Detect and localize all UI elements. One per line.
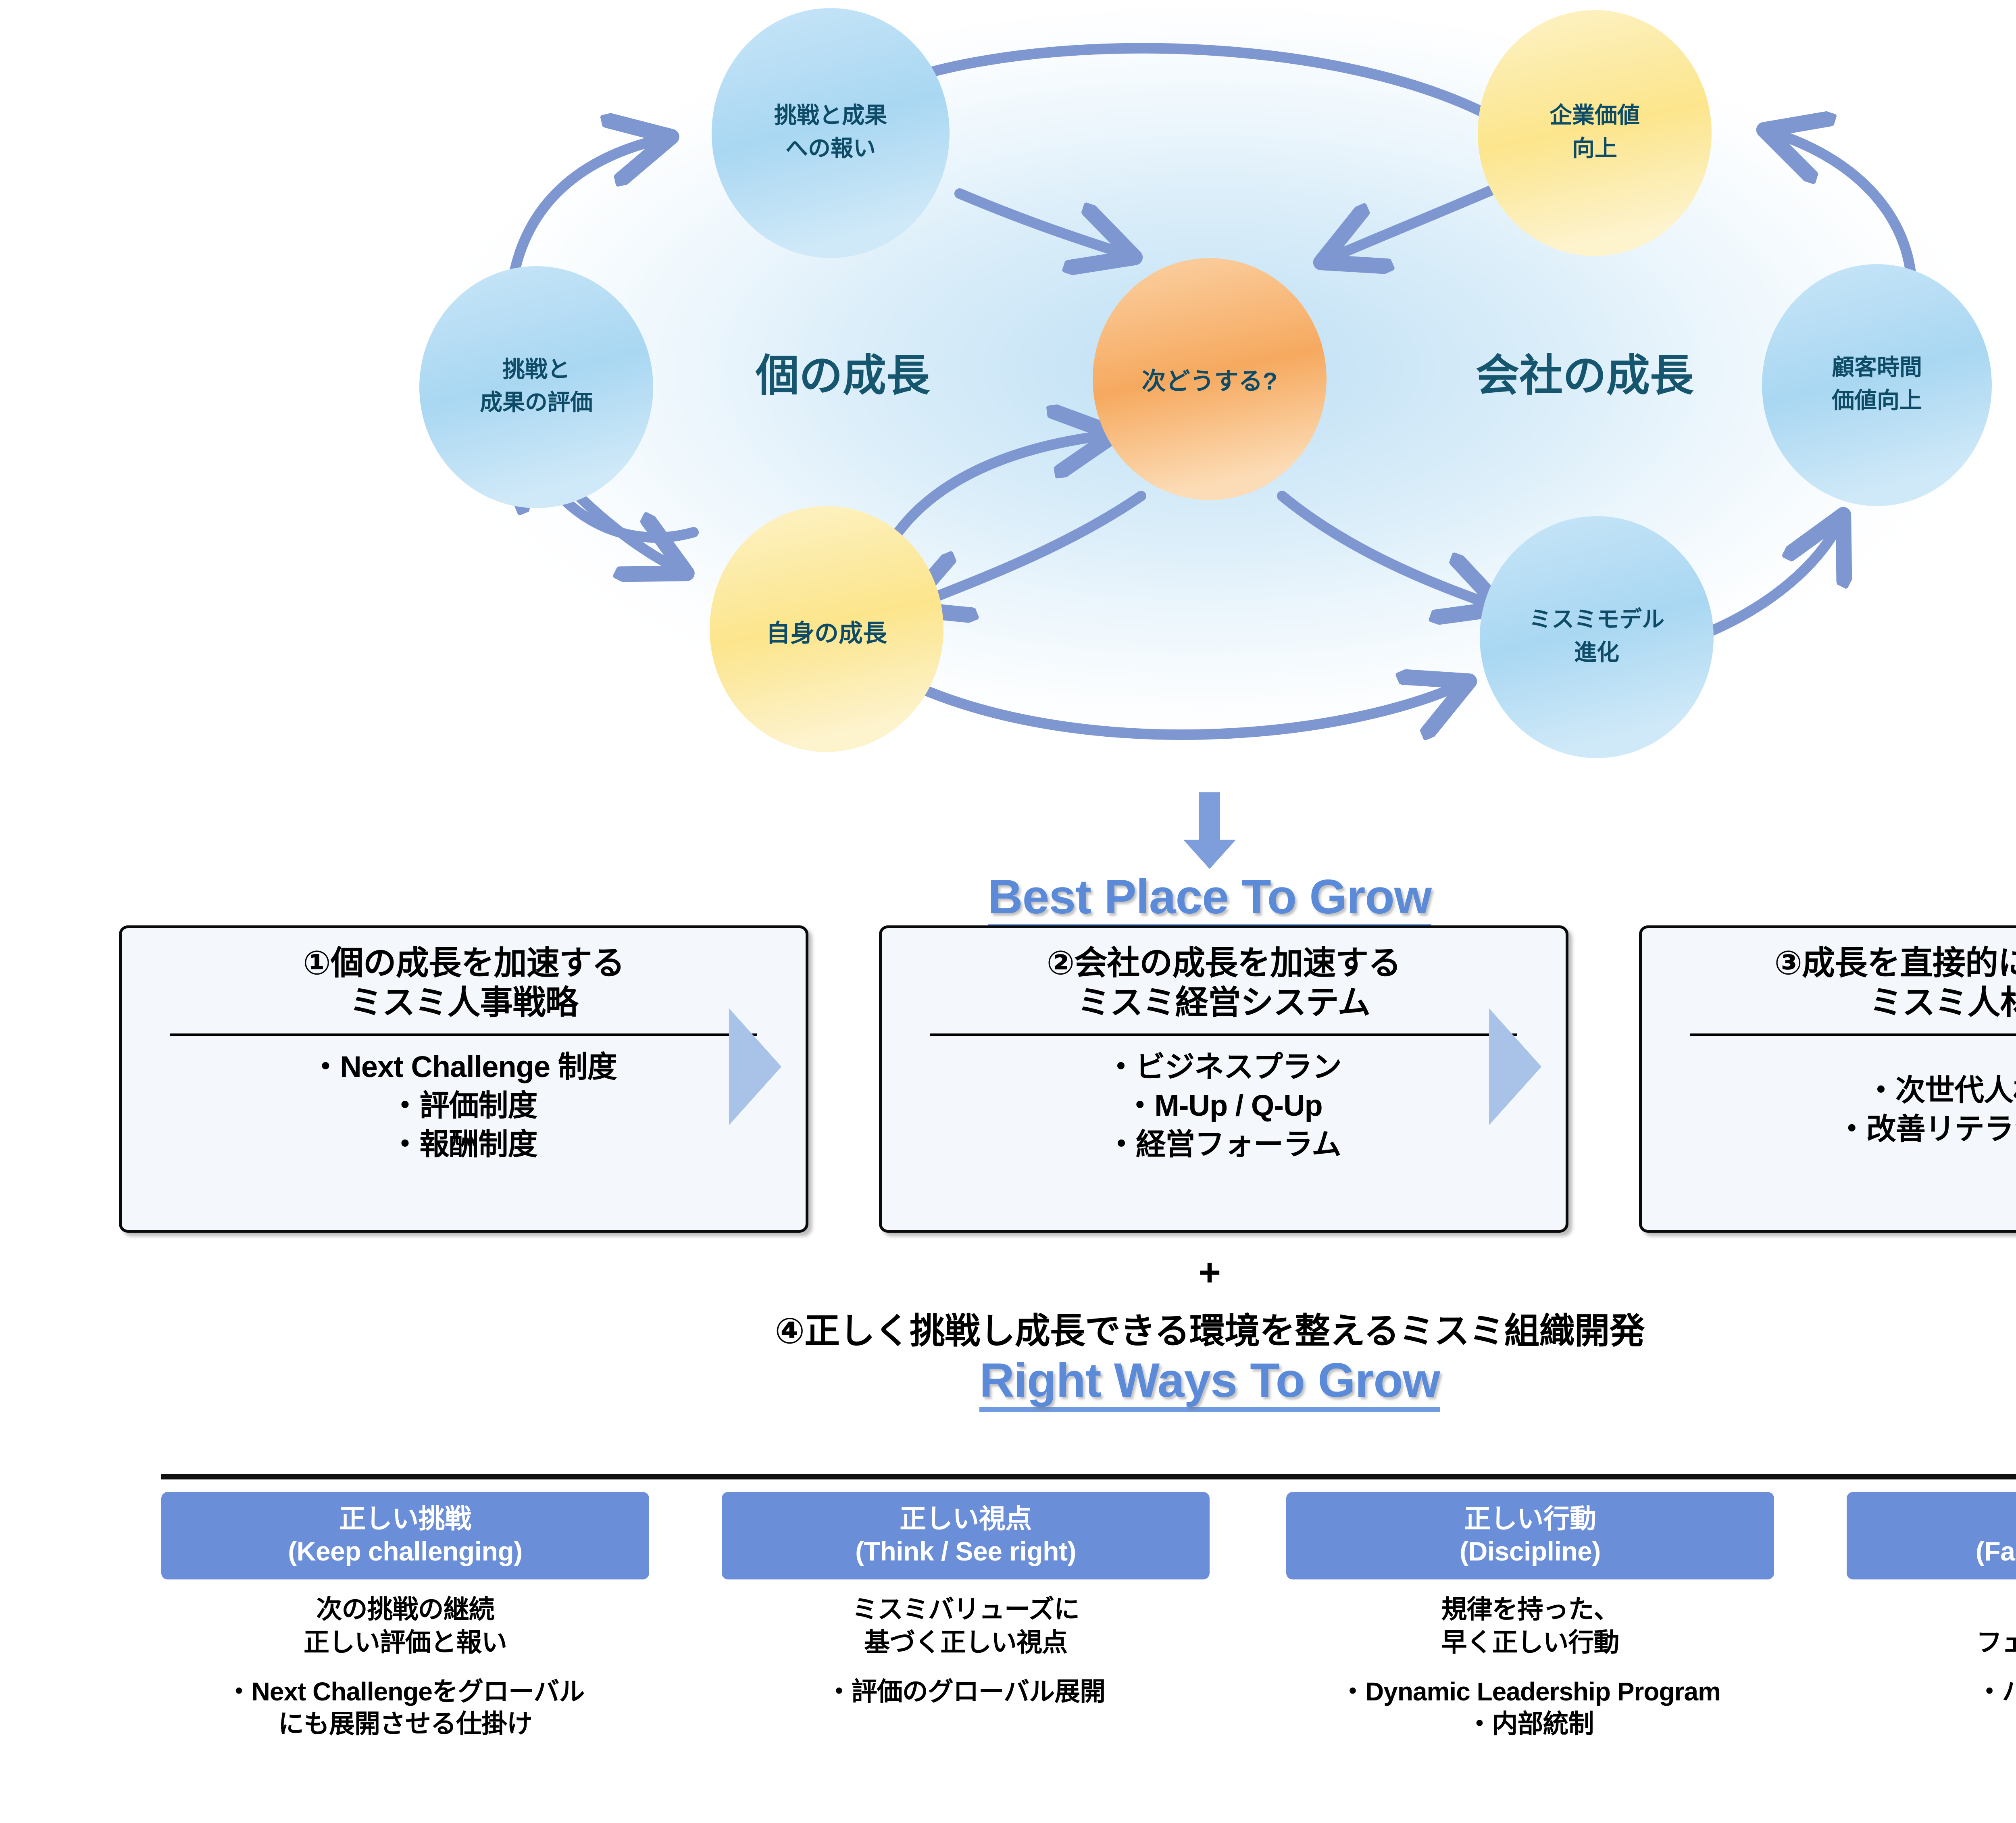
node-corporate-value-line1: 企業価値 (1549, 102, 1640, 128)
way-column-fair-environment[interactable]: 正しい環境 (Fair environment) 誰に対しても フェアな正しい環… (1847, 1492, 2016, 1740)
strategy-card-3-title: ③成長を直接的に後押しする ミスミ人材開発 (1658, 944, 2016, 1023)
node-challenge-reward[interactable]: 挑戦と成果 への報い (712, 8, 950, 258)
strategy-card-1[interactable]: ①個の成長を加速する ミスミ人事戦略 ・Next Challenge 制度 ・評… (119, 925, 808, 1233)
way-column-2-bullet-1: ・評価のグローバル展開 (722, 1675, 1210, 1708)
way-column-1-bullet-2: にも展開させる仕掛け (137, 1708, 673, 1740)
strategy-card-3[interactable]: ③成長を直接的に後押しする ミスミ人材開発 ・次世代人材育成 ・改善リテラシー講… (1639, 925, 2016, 1233)
node-challenge-evaluation[interactable]: 挑戦と 成果の評価 (419, 266, 653, 508)
way-column-3-header-en: (Discipline) (1290, 1535, 1770, 1568)
way-column-1-header-en: (Keep challenging) (165, 1535, 645, 1568)
strategy-card-3-items: ・次世代人材育成 ・改善リテラシー講座 (1642, 1071, 2016, 1148)
way-column-keep-challenging[interactable]: 正しい挑戦 (Keep challenging) 次の挑戦の継続 正しい評価と報… (161, 1492, 649, 1740)
strategy-card-2-divider (930, 1033, 1517, 1036)
way-column-3-header: 正しい行動 (Discipline) (1286, 1492, 1774, 1579)
node-challenge-evaluation-line2: 成果の評価 (480, 390, 593, 415)
strategy-card-2-items: ・ビジネスプラン ・M-Up / Q-Up ・経営フォーラム (882, 1048, 1566, 1164)
way-column-4-bullet-1: ・ハラスメントゼロ (1847, 1675, 2016, 1708)
way-column-1-bullet-1: ・Next Challengeをグローバル (137, 1675, 673, 1708)
strategy-cards: ①個の成長を加速する ミスミ人事戦略 ・Next Challenge 制度 ・評… (0, 925, 2016, 1240)
node-next-what-label: 次どうする? (1142, 368, 1278, 395)
growth-cycle-diagram: 個の成長 会社の成長 挑戦と成果 への報い 挑戦と 成果の評価 自身の成長 次ど… (0, 0, 2016, 798)
way-column-2-bullets: ・評価のグローバル展開 (722, 1675, 1210, 1708)
node-next-what[interactable]: 次どうする? (1093, 258, 1327, 500)
strategy-card-2-title-line2: ミスミ経営システム (1077, 984, 1370, 1021)
strategy-card-3-title-line1: ③成長を直接的に後押しする (1774, 945, 2016, 981)
strategy-card-1-item-1: ・Next Challenge 制度 (122, 1048, 806, 1086)
strategy-card-2[interactable]: ②会社の成長を加速する ミスミ経営システム ・ビジネスプラン ・M-Up / Q… (879, 925, 1568, 1233)
way-column-2-sub-line2: 基づく正しい視点 (722, 1626, 1210, 1659)
node-misumi-model-line2: 進化 (1574, 640, 1619, 665)
strategy-card-2-item-3: ・経営フォーラム (882, 1125, 1566, 1164)
strategy-card-3-title-line2: ミスミ人材開発 (1869, 984, 2016, 1021)
way-column-2-header-jp: 正しい視点 (900, 1504, 1032, 1533)
node-corporate-value-line2: 向上 (1572, 135, 1617, 161)
section-divider (161, 1474, 2016, 1479)
strategy-card-1-title-line2: ミスミ人事戦略 (349, 984, 578, 1021)
strategy-card-2-title: ②会社の成長を加速する ミスミ経営システム (898, 944, 1549, 1023)
way-column-1-sub-line1: 次の挑戦の継続 (161, 1593, 649, 1626)
way-column-3-header-jp: 正しい行動 (1464, 1504, 1596, 1533)
node-self-growth-label: 自身の成長 (766, 620, 887, 647)
down-arrow-icon (1183, 792, 1236, 869)
right-ways-columns: 正しい挑戦 (Keep challenging) 次の挑戦の継続 正しい評価と報… (0, 1492, 2016, 1823)
way-column-3-bullet-2: ・内部統制 (1262, 1708, 1798, 1740)
strategy-card-3-item-1: ・次世代人材育成 (1642, 1071, 2016, 1110)
strategy-card-1-title-line1: ①個の成長を加速する (303, 945, 624, 981)
strategy-card-1-item-2: ・評価制度 (122, 1086, 806, 1125)
strategy-card-1-title: ①個の成長を加速する ミスミ人事戦略 (138, 944, 789, 1023)
strategy-card-2-item-1: ・ビジネスプラン (882, 1048, 1566, 1086)
left-group-label: 個の成長 (755, 351, 930, 400)
node-challenge-reward-line1: 挑戦と成果 (774, 102, 887, 128)
organization-development-line: ④正しく挑戦し成長できる環境を整えるミスミ組織開発 (0, 1302, 2016, 1354)
way-column-2-header: 正しい視点 (Think / See right) (722, 1492, 1210, 1579)
strategy-card-1-item-3: ・報酬制度 (122, 1125, 806, 1164)
strategy-card-2-item-2: ・M-Up / Q-Up (882, 1086, 1566, 1125)
node-challenge-evaluation-line1: 挑戦と (502, 356, 570, 382)
node-corporate-value[interactable]: 企業価値 向上 (1478, 10, 1712, 256)
way-column-4-header-en: (Fair environment) (1851, 1535, 2016, 1568)
way-column-1-sub-line2: 正しい評価と報い (161, 1626, 649, 1659)
way-column-4-subtitle: 誰に対しても フェアな正しい環境 (1847, 1593, 2016, 1659)
strategy-card-1-items: ・Next Challenge 制度 ・評価制度 ・報酬制度 (122, 1048, 806, 1164)
way-column-2-sub-line1: ミスミバリューズに (722, 1593, 1210, 1626)
node-challenge-reward-line2: への報い (785, 135, 876, 161)
strategy-card-3-divider (1690, 1033, 2016, 1036)
way-column-3-bullet-1: ・Dynamic Leadership Program (1262, 1675, 1798, 1708)
way-column-2-header-en: (Think / See right) (726, 1535, 1206, 1568)
way-column-think-see-right[interactable]: 正しい視点 (Think / See right) ミスミバリューズに 基づく正… (722, 1492, 1210, 1708)
way-column-4-bullet-2: ・D＆I (1847, 1708, 2016, 1740)
right-group-label: 会社の成長 (1476, 351, 1694, 400)
way-column-3-subtitle: 規律を持った、 早く正しい行動 (1286, 1593, 1774, 1659)
best-place-to-grow-section: Best Place To Grow (0, 792, 2016, 928)
way-column-4-header: 正しい環境 (Fair environment) (1847, 1492, 2016, 1579)
way-column-3-sub-line2: 早く正しい行動 (1286, 1626, 1774, 1659)
plus-sign: + (0, 1253, 2016, 1292)
way-column-3-bullets: ・Dynamic Leadership Program ・内部統制 (1286, 1675, 1774, 1740)
way-column-4-sub-line2: フェアな正しい環境 (1847, 1626, 2016, 1659)
way-column-4-bullets: ・ハラスメントゼロ ・D＆I (1847, 1675, 2016, 1740)
way-column-4-sub-line1: 誰に対しても (1847, 1593, 2016, 1626)
way-column-3-sub-line1: 規律を持った、 (1286, 1593, 1774, 1626)
node-customer-time-value-line2: 価値向上 (1831, 388, 1922, 413)
node-self-growth[interactable]: 自身の成長 (710, 506, 943, 752)
strategy-card-2-title-line1: ②会社の成長を加速する (1047, 945, 1401, 981)
right-ways-to-grow-section: Right Ways To Grow (0, 1355, 2016, 1412)
way-column-1-bullets: ・Next Challengeをグローバル にも展開させる仕掛け (161, 1675, 649, 1740)
node-misumi-model-evolution[interactable]: ミスミモデル 進化 (1480, 516, 1714, 758)
node-misumi-model-line1: ミスミモデル (1529, 606, 1664, 632)
best-place-to-grow-title: Best Place To Grow (988, 871, 1431, 928)
node-customer-time-value-line1: 顧客時間 (1832, 354, 1922, 380)
way-column-1-subtitle: 次の挑戦の継続 正しい評価と報い (161, 1593, 649, 1659)
node-customer-time-value[interactable]: 顧客時間 価値向上 (1762, 264, 1992, 506)
way-column-1-header-jp: 正しい挑戦 (339, 1504, 471, 1533)
strategy-card-3-item-2: ・改善リテラシー講座 (1642, 1110, 2016, 1148)
way-column-discipline[interactable]: 正しい行動 (Discipline) 規律を持った、 早く正しい行動 ・Dyna… (1286, 1492, 1774, 1740)
way-column-1-header: 正しい挑戦 (Keep challenging) (161, 1492, 649, 1579)
way-column-2-subtitle: ミスミバリューズに 基づく正しい視点 (722, 1593, 1210, 1659)
right-ways-to-grow-title: Right Ways To Grow (979, 1355, 1440, 1412)
diagram-canvas: 個の成長 会社の成長 挑戦と成果 への報い 挑戦と 成果の評価 自身の成長 次ど… (0, 0, 2016, 798)
strategy-card-1-divider (170, 1033, 757, 1036)
